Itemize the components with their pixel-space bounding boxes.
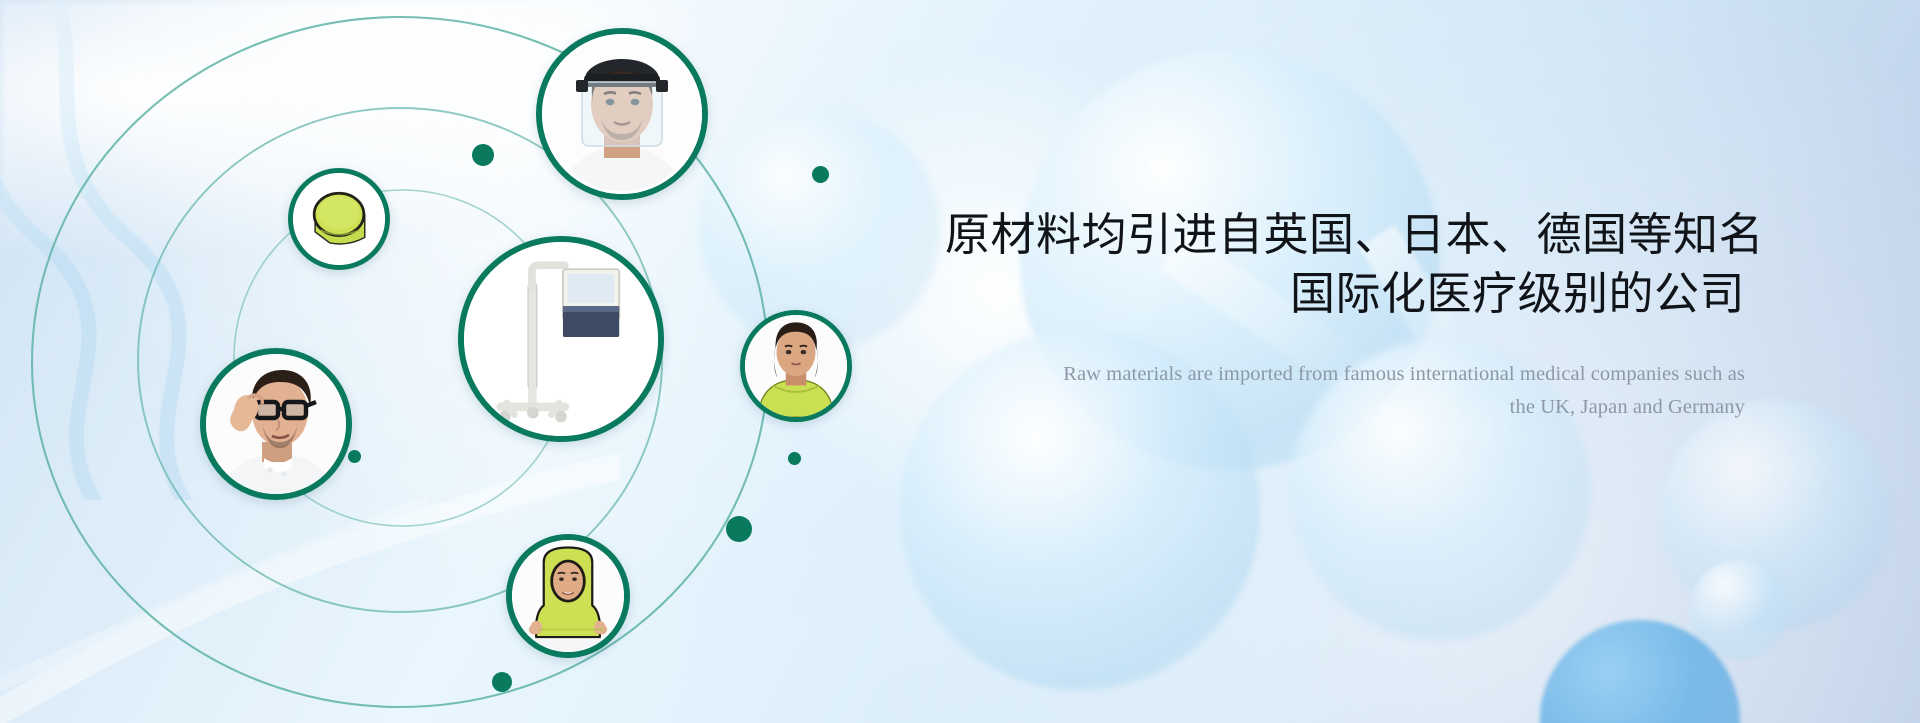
- lead-hood-icon: [512, 540, 624, 652]
- molecule-sphere-tiny: [1690, 560, 1790, 660]
- orbit-dot: [348, 450, 361, 463]
- orbit-dot: [726, 516, 752, 542]
- orbit-dot: [812, 166, 829, 183]
- banner-headline: 原材料均引进自英国、日本、德国等知名 国际化医疗级别的公司: [945, 205, 1745, 324]
- mobile-lead-screen-icon: [464, 242, 658, 436]
- headline-line-2: 国际化医疗级别的公司: [945, 264, 1745, 323]
- molecule-sphere-blue-accent: [1540, 620, 1740, 723]
- subheadline-line-2: the UK, Japan and Germany: [945, 391, 1745, 424]
- node-mobile-lead-shield-screen[interactable]: [458, 236, 664, 442]
- orbit-dot: [788, 452, 801, 465]
- node-lead-hood-model[interactable]: [506, 534, 630, 658]
- node-lead-glasses-model[interactable]: [200, 348, 352, 500]
- banner-subheadline: Raw materials are imported from famous i…: [945, 358, 1745, 424]
- subheadline-line-1: Raw materials are imported from famous i…: [945, 358, 1745, 391]
- lead-glasses-icon: [206, 354, 346, 494]
- node-lead-cap-product[interactable]: [288, 168, 390, 270]
- hero-banner: 原材料均引进自英国、日本、德国等知名 国际化医疗级别的公司 Raw materi…: [0, 0, 1920, 723]
- radiation-head-shield-icon: [542, 34, 702, 194]
- lead-cap-icon: [293, 173, 385, 265]
- node-radiation-protection-head-shield[interactable]: [536, 28, 708, 200]
- banner-copy: 原材料均引进自英国、日本、德国等知名 国际化医疗级别的公司 Raw materi…: [945, 205, 1745, 424]
- orbit-dot: [472, 144, 494, 166]
- headline-line-1: 原材料均引进自英国、日本、德国等知名: [945, 208, 1764, 261]
- node-thyroid-collar-model[interactable]: [740, 310, 852, 422]
- molecule-sphere-far-right: [1660, 400, 1890, 630]
- orbit-dot: [492, 672, 512, 692]
- thyroid-collar-icon: [745, 315, 847, 417]
